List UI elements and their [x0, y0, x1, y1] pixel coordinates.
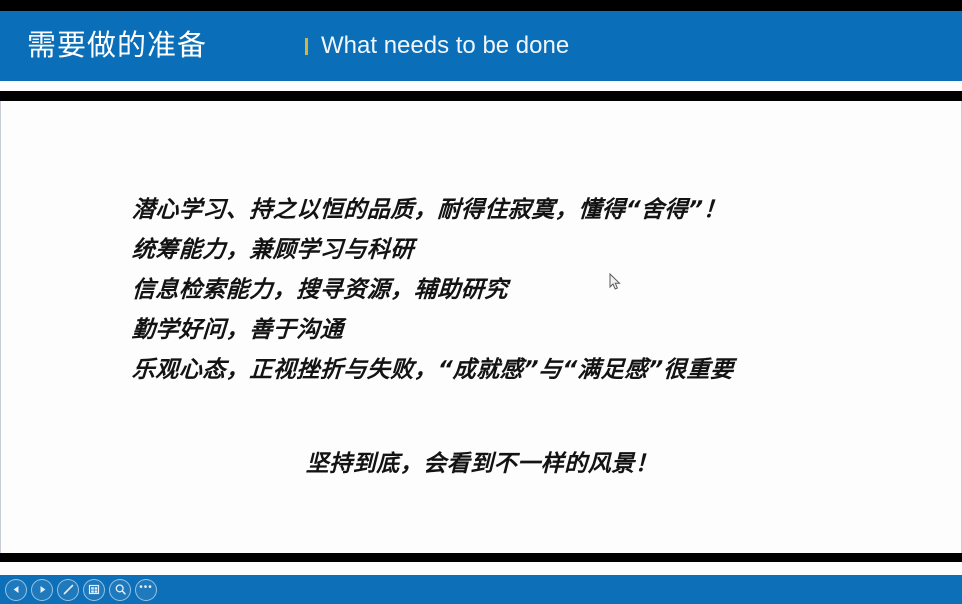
footer-gap: [0, 562, 962, 575]
previous-slide-button[interactable]: [5, 579, 27, 601]
list-item: 勤学好问，善于沟通: [131, 310, 933, 350]
page-title-english: What needs to be done: [321, 34, 569, 58]
more-options-button[interactable]: •••: [135, 579, 157, 601]
zoom-button[interactable]: [109, 579, 131, 601]
bottom-divider-rule: [0, 553, 962, 562]
grid-icon: [88, 583, 101, 596]
list-item: 信息检索能力，搜寻资源，辅助研究: [131, 270, 933, 310]
ellipsis-icon: •••: [139, 583, 153, 593]
closing-statement: 坚持到底，会看到不一样的风景！: [1, 444, 962, 478]
presentation-toolbar: •••: [0, 575, 962, 604]
next-slide-button[interactable]: [31, 579, 53, 601]
triangle-left-icon: [12, 585, 21, 594]
top-divider-rule: [0, 91, 962, 101]
header-gap: [0, 81, 962, 91]
page-title-chinese: 需要做的准备: [27, 32, 207, 61]
slide-grid-button[interactable]: [83, 579, 105, 601]
list-item: 乐观心态，正视挫折与失败，“成就感”与“满足感”很重要: [131, 350, 933, 390]
vertical-bar-icon: [305, 38, 308, 55]
slide-header-bar: 需要做的准备 What needs to be done: [0, 11, 962, 81]
magnifier-icon: [114, 583, 127, 596]
bullet-list: 潜心学习、持之以恒的品质，耐得住寂寞，懂得“舍得”！ 统筹能力，兼顾学习与科研 …: [132, 190, 932, 390]
triangle-right-icon: [38, 585, 47, 594]
slideshow-window: 需要做的准备 What needs to be done 潜心学习、持之以恒的品…: [0, 0, 962, 604]
slide-content-area: 潜心学习、持之以恒的品质，耐得住寂寞，懂得“舍得”！ 统筹能力，兼顾学习与科研 …: [0, 101, 962, 553]
top-black-strip: [0, 0, 962, 11]
pen-icon: [62, 583, 75, 596]
list-item: 统筹能力，兼顾学习与科研: [131, 230, 933, 270]
list-item: 潜心学习、持之以恒的品质，耐得住寂寞，懂得“舍得”！: [131, 190, 933, 230]
pen-tool-button[interactable]: [57, 579, 79, 601]
